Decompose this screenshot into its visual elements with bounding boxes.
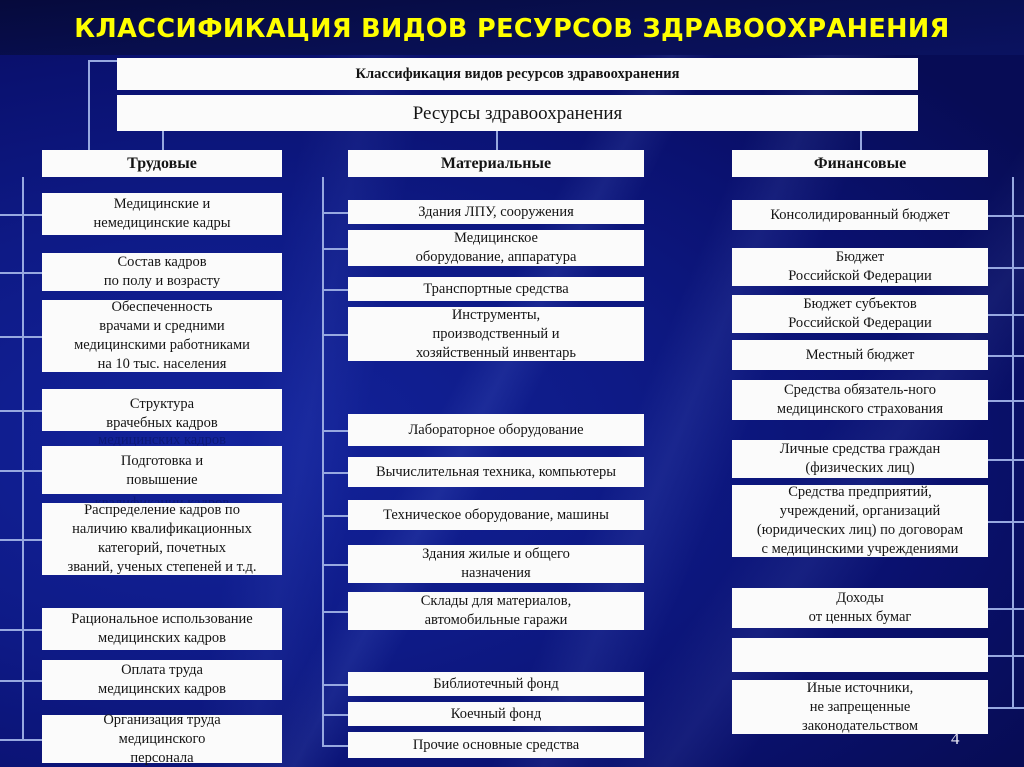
item-box-material-3: Инструменты, производственный и хозяйств… — [348, 307, 644, 361]
title-bar: КЛАССИФИКАЦИЯ ВИДОВ РЕСУРСОВ ЗДРАВООХРАН… — [0, 0, 1024, 55]
item-box-financial-8 — [732, 638, 988, 672]
item-box-financial-4: Средства обязатель-ного медицинского стр… — [732, 380, 988, 420]
item-box-financial-1: Бюджет Российской Федерации — [732, 248, 988, 286]
connector-spine-material — [322, 177, 324, 745]
item-box-financial-7-label: Доходы от ценных бумаг — [736, 589, 984, 627]
item-box-financial-1-label: Бюджет Российской Федерации — [736, 248, 984, 286]
item-box-financial-4-label: Средства обязатель-ного медицинского стр… — [736, 381, 984, 419]
item-box-material-2: Транспортные средства — [348, 277, 644, 301]
category-heading-labor-label: Трудовые — [46, 154, 278, 173]
item-box-labor-5: Распределение кадров по наличию квалифик… — [42, 503, 282, 575]
item-box-labor-3-label: Структура врачебных кадровмедицинских ка… — [46, 395, 278, 433]
header-box-resources: Ресурсы здравоохранения — [117, 95, 918, 131]
item-box-labor-1: Состав кадров по полу и возрасту — [42, 253, 282, 291]
item-box-material-1-label: Медицинское оборудование, аппаратура — [352, 229, 640, 267]
connector-stub-financial-0 — [988, 215, 1024, 217]
category-heading-financial-label: Финансовые — [736, 154, 984, 173]
item-box-material-6: Техническое оборудование, машины — [348, 500, 644, 530]
item-box-labor-8-label: Организация труда медицинского персонала — [46, 711, 278, 767]
connector-stub-labor-2 — [0, 336, 42, 338]
item-box-material-0: Здания ЛПУ, сооружения — [348, 200, 644, 224]
item-box-material-7-label: Здания жилые и общего назначения — [352, 545, 640, 583]
item-box-material-1: Медицинское оборудование, аппаратура — [348, 230, 644, 266]
header-box-classification-label: Классификация видов ресурсов здравоохран… — [121, 65, 914, 84]
item-box-labor-2-label: Обеспеченность врачами и средними медици… — [46, 298, 278, 374]
item-box-material-8: Склады для материалов, автомобильные гар… — [348, 592, 644, 630]
category-heading-financial: Финансовые — [732, 150, 988, 177]
item-box-financial-9: Иные источники, не запрещенные законодат… — [732, 680, 988, 734]
connector-stub-material-5 — [322, 472, 348, 474]
item-box-financial-9-label: Иные источники, не запрещенные законодат… — [736, 679, 984, 736]
connector-stub-financial-8 — [988, 655, 1024, 657]
item-box-material-11-label: Прочие основные средства — [352, 736, 640, 755]
connector-stub-material-9 — [322, 684, 348, 686]
item-box-labor-4-label: Подготовка и повышениеквалификации кадро… — [46, 452, 278, 490]
item-box-financial-7: Доходы от ценных бумаг — [732, 588, 988, 628]
connector-stub-financial-1 — [988, 267, 1024, 269]
item-box-labor-6-label: Рациональное использование медицинских к… — [46, 610, 278, 648]
item-box-material-5-label: Вычислительная техника, компьютеры — [352, 463, 640, 482]
header-box-classification: Классификация видов ресурсов здравоохран… — [117, 58, 918, 90]
connector-stub-material-2 — [322, 289, 348, 291]
item-box-material-10: Коечный фонд — [348, 702, 644, 726]
connector-stub-labor-8 — [0, 739, 42, 741]
item-box-material-2-label: Транспортные средства — [352, 280, 640, 299]
item-box-financial-2: Бюджет субъектов Российской Федерации — [732, 295, 988, 333]
item-box-labor-2: Обеспеченность врачами и средними медици… — [42, 300, 282, 372]
connector-stub-financial-3 — [988, 355, 1024, 357]
connector-stub-material-1 — [322, 248, 348, 250]
item-box-labor-8: Организация труда медицинского персонала — [42, 715, 282, 763]
connector-stub-material-11 — [322, 745, 348, 747]
connector-stub-material-3 — [322, 334, 348, 336]
item-box-financial-3: Местный бюджет — [732, 340, 988, 370]
connector-stub-financial-4 — [988, 400, 1024, 402]
connector-drop-material — [496, 131, 498, 150]
item-box-material-7: Здания жилые и общего назначения — [348, 545, 644, 583]
connector-stub-labor-4 — [0, 470, 42, 472]
page-title: КЛАССИФИКАЦИЯ ВИДОВ РЕСУРСОВ ЗДРАВООХРАН… — [0, 14, 1024, 44]
connector-stub-financial-2 — [988, 314, 1024, 316]
item-box-material-8-label: Склады для материалов, автомобильные гар… — [352, 592, 640, 630]
item-box-labor-7-label: Оплата труда медицинских кадров — [46, 661, 278, 699]
connector-stub-financial-5 — [988, 459, 1024, 461]
item-box-labor-0-label: Медицинские и немедицинские кадры — [46, 195, 278, 233]
item-box-financial-6-label: Средства предприятий, учреждений, органи… — [736, 483, 984, 559]
connector-spine-labor — [22, 177, 24, 739]
item-box-material-6-label: Техническое оборудование, машины — [352, 506, 640, 525]
item-box-material-4: Лабораторное оборудование — [348, 414, 644, 446]
item-box-labor-7: Оплата труда медицинских кадров — [42, 660, 282, 700]
connector-drop-labor — [162, 131, 164, 150]
item-box-financial-3-label: Местный бюджет — [736, 346, 984, 365]
item-box-material-5: Вычислительная техника, компьютеры — [348, 457, 644, 487]
connector-root-top — [88, 60, 118, 62]
item-box-labor-0: Медицинские и немедицинские кадры — [42, 193, 282, 235]
item-box-material-0-label: Здания ЛПУ, сооружения — [352, 203, 640, 222]
connector-stub-financial-7 — [988, 608, 1024, 610]
connector-stub-material-6 — [322, 515, 348, 517]
connector-stub-labor-3 — [0, 410, 42, 412]
connector-stub-labor-1 — [0, 272, 42, 274]
item-box-financial-0: Консолидированный бюджет — [732, 200, 988, 230]
item-box-material-9: Библиотечный фонд — [348, 672, 644, 696]
connector-stub-labor-0 — [0, 214, 42, 216]
category-heading-material-label: Материальные — [352, 154, 640, 173]
item-box-labor-5-label: Распределение кадров по наличию квалифик… — [46, 501, 278, 577]
connector-drop-financial — [860, 131, 862, 150]
connector-stub-material-10 — [322, 714, 348, 716]
category-heading-labor: Трудовые — [42, 150, 282, 177]
slide-root: КЛАССИФИКАЦИЯ ВИДОВ РЕСУРСОВ ЗДРАВООХРАН… — [0, 0, 1024, 767]
item-box-material-4-label: Лабораторное оборудование — [352, 421, 640, 440]
connector-spine-financial — [1012, 177, 1014, 707]
item-box-financial-2-label: Бюджет субъектов Российской Федерации — [736, 295, 984, 333]
connector-stub-material-8 — [322, 611, 348, 613]
item-box-material-9-label: Библиотечный фонд — [352, 675, 640, 694]
connector-stub-material-7 — [322, 564, 348, 566]
connector-stub-financial-6 — [988, 521, 1024, 523]
item-box-financial-0-label: Консолидированный бюджет — [736, 206, 984, 225]
item-box-material-3-label: Инструменты, производственный и хозяйств… — [352, 306, 640, 363]
connector-stub-material-0 — [322, 212, 348, 214]
item-box-labor-1-label: Состав кадров по полу и возрасту — [46, 253, 278, 291]
page-number: 4 — [951, 729, 960, 749]
item-box-labor-4: Подготовка и повышениеквалификации кадро… — [42, 446, 282, 494]
category-heading-material: Материальные — [348, 150, 644, 177]
item-box-financial-6: Средства предприятий, учреждений, органи… — [732, 485, 988, 557]
item-box-material-10-label: Коечный фонд — [352, 705, 640, 724]
item-box-labor-6: Рациональное использование медицинских к… — [42, 608, 282, 650]
connector-stub-financial-9 — [988, 707, 1024, 709]
header-box-resources-label: Ресурсы здравоохранения — [121, 104, 914, 123]
item-box-financial-5-label: Личные средства граждан (физических лиц) — [736, 440, 984, 478]
item-box-labor-3: Структура врачебных кадровмедицинских ка… — [42, 389, 282, 431]
connector-stub-labor-7 — [0, 680, 42, 682]
item-box-material-11: Прочие основные средства — [348, 732, 644, 758]
connector-root-left-vertical — [88, 60, 90, 160]
connector-stub-labor-6 — [0, 629, 42, 631]
connector-stub-labor-5 — [0, 539, 42, 541]
item-box-financial-5: Личные средства граждан (физических лиц) — [732, 440, 988, 478]
connector-stub-material-4 — [322, 430, 348, 432]
